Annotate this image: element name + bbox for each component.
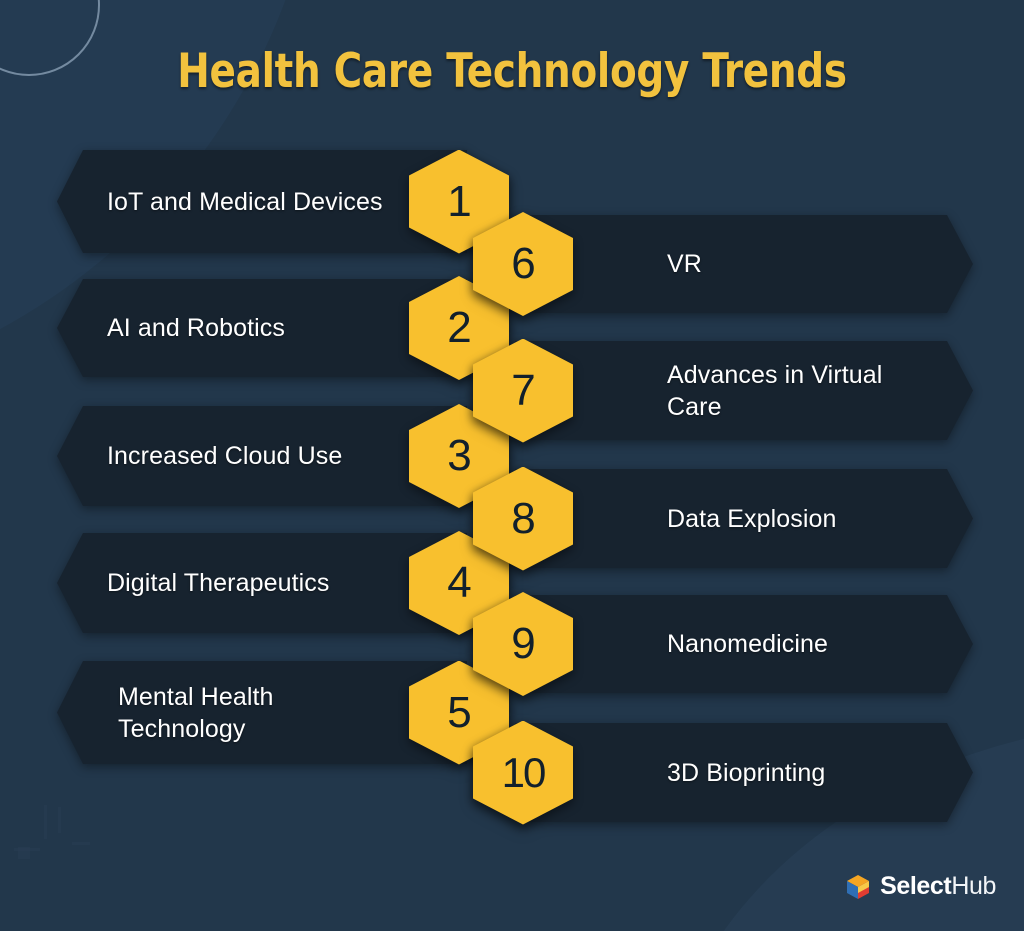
hexagon-number-6: 6 <box>511 242 534 286</box>
list-item-right-9[interactable]: Nanomedicine 9 <box>515 595 973 693</box>
hexagon-number-8: 8 <box>511 497 534 541</box>
bar-left-4-label: Digital Therapeutics <box>107 567 329 599</box>
bar-left-4[interactable]: Digital Therapeutics <box>57 533 467 633</box>
bar-right-6[interactable]: VR <box>515 215 973 313</box>
bar-right-10-label: 3D Bioprinting <box>667 757 825 789</box>
list-item-left-3[interactable]: Increased Cloud Use 3 <box>57 406 467 506</box>
list-item-right-7[interactable]: Advances in Virtual Care 7 <box>515 341 973 440</box>
list-item-right-8[interactable]: Data Explosion 8 <box>515 469 973 568</box>
hexagon-shape: 7 <box>473 339 573 443</box>
bar-right-10[interactable]: 3D Bioprinting <box>515 723 973 822</box>
bar-left-5-label: Mental Health Technology <box>118 681 389 745</box>
hexagon-number-10: 10 <box>502 752 545 794</box>
bar-left-3-label: Increased Cloud Use <box>107 440 342 472</box>
hexagon-number-5: 5 <box>447 691 470 735</box>
bar-left-3[interactable]: Increased Cloud Use <box>57 406 467 506</box>
page-title: Health Care Technology Trends <box>41 44 983 99</box>
hexagon-number-4: 4 <box>447 561 470 605</box>
logo-wordmark: SelectHub <box>880 872 996 901</box>
decorative-mark <box>18 847 30 859</box>
bar-left-1[interactable]: IoT and Medical Devices <box>57 150 467 253</box>
bar-left-5[interactable]: Mental Health Technology <box>57 661 467 764</box>
hexagon-badge-7: 7 <box>473 339 573 443</box>
hexagon-shape: 8 <box>473 467 573 571</box>
bar-right-8-label: Data Explosion <box>667 503 837 535</box>
bar-right-7[interactable]: Advances in Virtual Care <box>515 341 973 440</box>
hexagon-number-9: 9 <box>511 622 534 666</box>
hexagon-badge-10: 10 <box>473 721 573 825</box>
bar-left-2[interactable]: AI and Robotics <box>57 279 467 377</box>
decorative-mark <box>44 805 47 839</box>
cube-icon <box>845 874 871 900</box>
hexagon-number-3: 3 <box>447 434 470 478</box>
bar-left-1-label: IoT and Medical Devices <box>107 186 383 218</box>
logo-hub-text: Hub <box>951 872 996 900</box>
hexagon-number-7: 7 <box>511 369 534 413</box>
list-item-left-1[interactable]: IoT and Medical Devices 1 <box>57 150 467 253</box>
hexagon-badge-8: 8 <box>473 467 573 571</box>
hexagon-badge-9: 9 <box>473 592 573 696</box>
logo-select-text: Select <box>880 872 951 900</box>
infographic-canvas: Health Care Technology Trends IoT and Me… <box>0 0 1024 931</box>
hexagon-number-1: 1 <box>447 180 470 224</box>
list-item-right-10[interactable]: 3D Bioprinting 10 <box>515 723 973 822</box>
hexagon-shape: 6 <box>473 212 573 316</box>
hexagon-shape: 9 <box>473 592 573 696</box>
decorative-mark <box>14 848 40 851</box>
hexagon-badge-6: 6 <box>473 212 573 316</box>
bar-right-9[interactable]: Nanomedicine <box>515 595 973 693</box>
hexagon-number-2: 2 <box>447 306 470 350</box>
selecthub-logo[interactable]: SelectHub <box>845 872 996 901</box>
list-item-left-2[interactable]: AI and Robotics 2 <box>57 279 467 377</box>
decorative-mark <box>58 807 61 833</box>
hexagon-shape: 10 <box>473 721 573 825</box>
list-item-right-6[interactable]: VR 6 <box>515 215 973 313</box>
bar-right-8[interactable]: Data Explosion <box>515 469 973 568</box>
list-item-left-5[interactable]: Mental Health Technology 5 <box>57 661 467 764</box>
decorative-mark <box>72 842 90 845</box>
list-item-left-4[interactable]: Digital Therapeutics 4 <box>57 533 467 633</box>
bar-left-2-label: AI and Robotics <box>107 312 285 344</box>
bar-right-6-label: VR <box>667 248 702 280</box>
bar-right-7-label: Advances in Virtual Care <box>667 359 933 423</box>
bar-right-9-label: Nanomedicine <box>667 628 828 660</box>
